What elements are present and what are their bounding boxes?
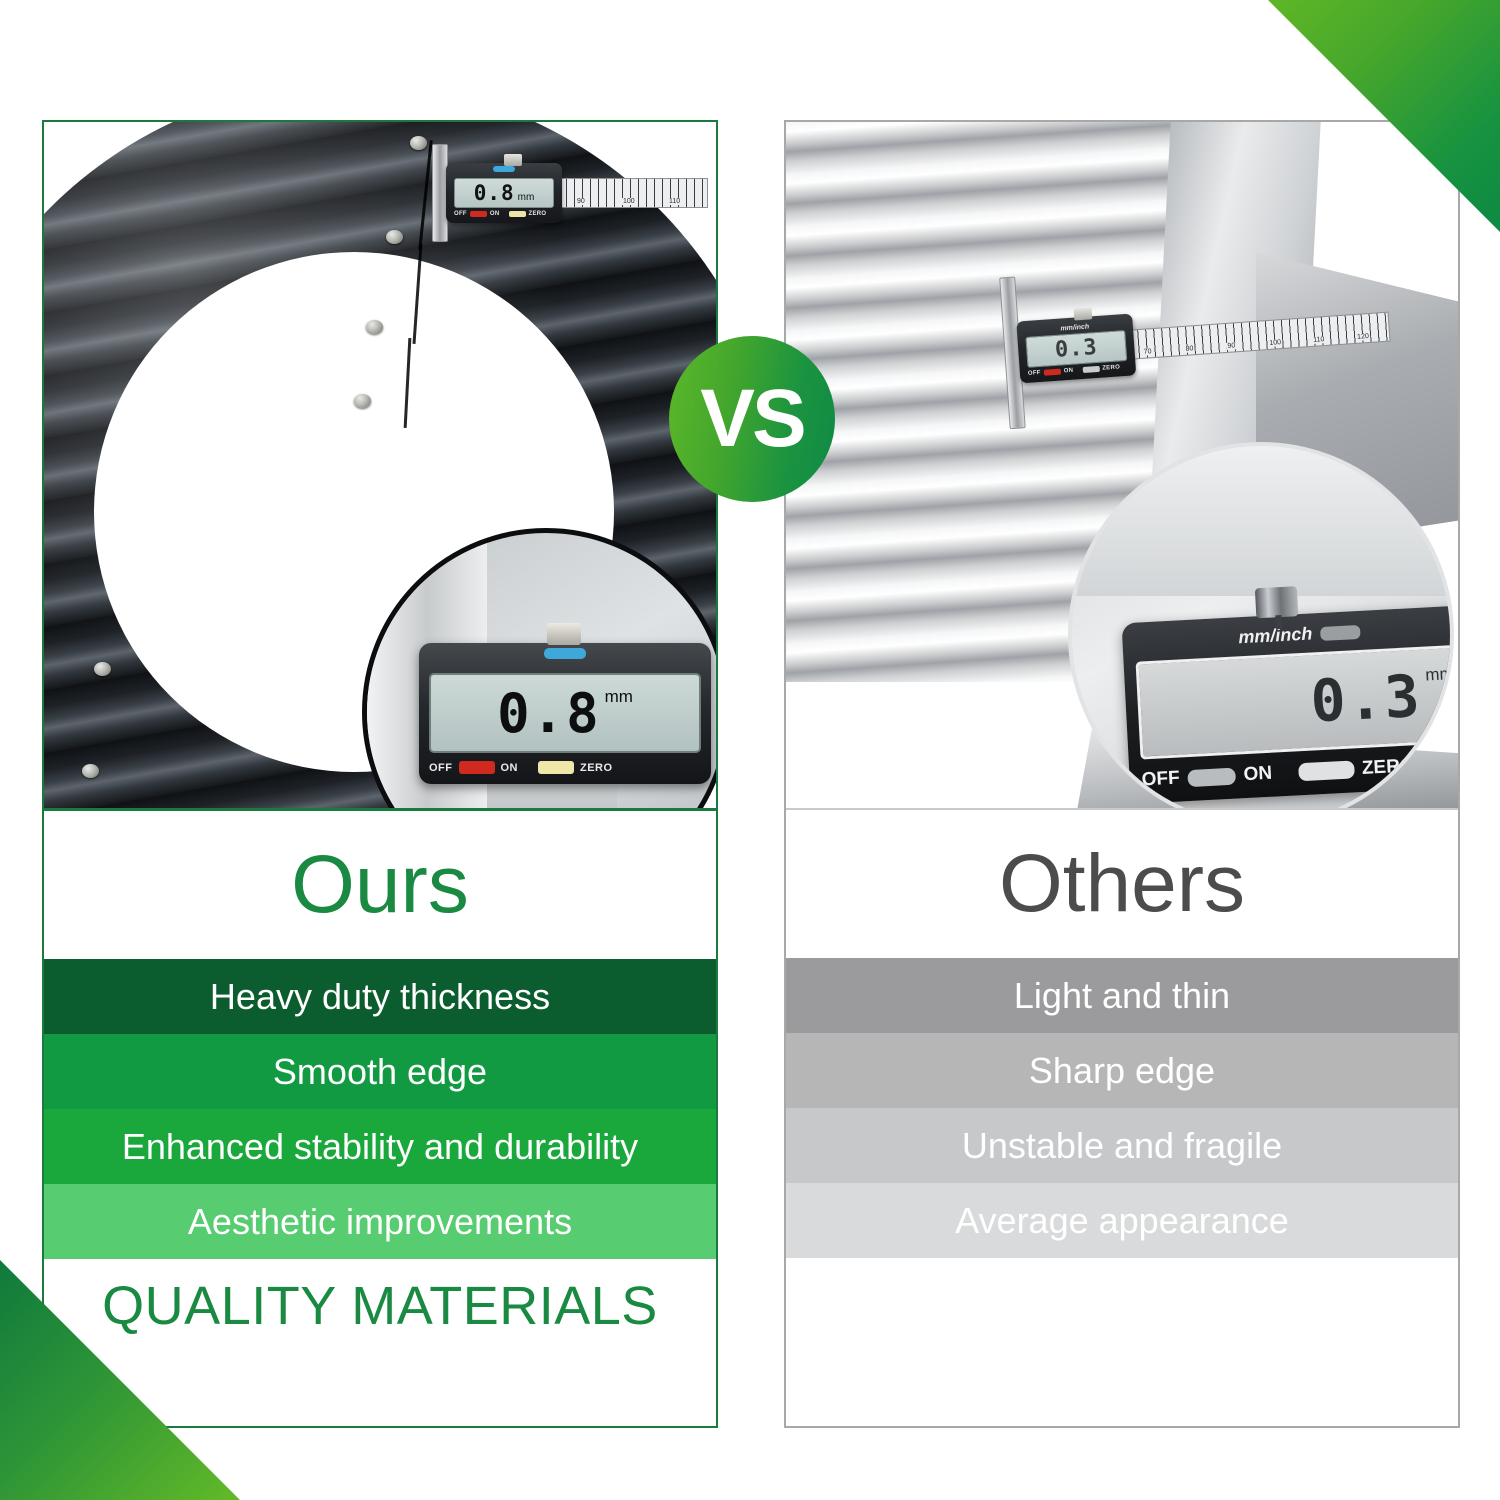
caliper-power-switch (470, 211, 487, 217)
caliper-zero-label: ZERO (1361, 755, 1415, 780)
ruler-tick-label: 100 (1268, 339, 1282, 347)
caliper-zero-label: ZERO (529, 211, 547, 217)
caliper-zero-label: ZERO (1102, 364, 1120, 371)
caliper-reading: 0.3 (1054, 335, 1098, 363)
magnified-caliper-others: mm/inch 0.3 mm OFF ON ZERO (1122, 605, 1454, 804)
caliper-unit: mm (1425, 664, 1454, 685)
caliper-power-switch (1187, 767, 1236, 786)
feature-row: Light and thin (786, 958, 1458, 1033)
caliper-off-label: OFF (1028, 370, 1041, 377)
caliper-thumbscrew (1074, 307, 1093, 320)
caliper-mode-button (493, 166, 515, 172)
feature-row: Average appearance (786, 1183, 1458, 1258)
vs-badge: VS (669, 336, 835, 502)
ruler-tick-label: 90 (576, 198, 586, 205)
caliper-on-label: ON (501, 762, 519, 774)
caliper-body: mm/inch 0.3 OFF ON ZERO (1016, 313, 1136, 383)
ruler-tick-label: 90 (1226, 342, 1236, 350)
caliper-thumbscrew (1254, 586, 1298, 618)
caliper-zero-button (1082, 366, 1099, 373)
ruler-tick-label: 70 (1142, 348, 1152, 356)
caliper-thumbscrew (547, 623, 581, 645)
caliper-off-label: OFF (429, 762, 453, 774)
feature-label: Light and thin (1014, 975, 1230, 1017)
caliper-display: 0.3 mm (1136, 644, 1454, 759)
ruler-tick-label: 120 (1356, 333, 1370, 341)
feature-row: Unstable and fragile (786, 1108, 1458, 1183)
screw-icon (410, 136, 427, 150)
ruler-tick-label: 110 (668, 198, 681, 205)
caliper-on-label: ON (490, 211, 500, 217)
feature-list-ours: Heavy duty thickness Smooth edge Enhance… (44, 959, 716, 1259)
caliper-zero-button (509, 211, 526, 217)
digital-caliper-others: mm/inch 0.3 OFF ON ZERO 70 80 90 100 110 (999, 251, 1395, 430)
screw-icon (366, 320, 383, 334)
product-photo-ours: 0.8 mm OFF ON ZERO 90 100 110 (44, 122, 716, 811)
caliper-reading: 0.3 (1309, 662, 1423, 736)
caliper-ruler: 90 100 110 (558, 178, 708, 208)
panel-title-others: Others (786, 810, 1458, 958)
feature-row: Aesthetic improvements (44, 1184, 716, 1259)
ruler-tick-label: 100 (622, 198, 636, 205)
caliper-mode-button (1320, 624, 1361, 640)
feature-list-others: Light and thin Sharp edge Unstable and f… (786, 958, 1458, 1258)
screw-icon (386, 230, 403, 244)
feature-label: Enhanced stability and durability (122, 1126, 638, 1168)
caliper-body: 0.8 mm OFF ON ZERO (446, 163, 562, 223)
caliper-buttons: OFF ON ZERO (429, 761, 701, 774)
feature-label: Unstable and fragile (962, 1125, 1282, 1167)
feature-row: Heavy duty thickness (44, 959, 716, 1034)
caliper-thumbscrew (504, 154, 522, 166)
digital-caliper-ours: 0.8 mm OFF ON ZERO 90 100 110 (432, 144, 708, 242)
page-title-others: Others (999, 843, 1245, 925)
caliper-display: 0.8 mm (454, 178, 554, 208)
magnified-caliper-ours: 0.8 mm OFF ON ZERO (419, 643, 711, 784)
caliper-reading: 0.8 (497, 682, 601, 745)
caliper-buttons: OFF ON ZERO (454, 211, 554, 217)
feature-label: Average appearance (955, 1200, 1289, 1242)
vs-label: VS (700, 378, 803, 460)
caliper-on-label: ON (1243, 763, 1273, 786)
feature-row: Sharp edge (786, 1033, 1458, 1108)
magnified-detail-ours: 0.8 mm OFF ON ZERO (362, 528, 716, 811)
caliper-display: 0.3 (1025, 330, 1127, 368)
caliper-ruler: 70 80 90 100 110 120 (1129, 312, 1390, 360)
caliper-zero-button (1298, 760, 1355, 781)
feature-row: Enhanced stability and durability (44, 1109, 716, 1184)
magnified-detail-others: mm/inch 0.3 mm OFF ON ZERO (1068, 442, 1454, 810)
caliper-off-label: OFF (1141, 768, 1180, 792)
feature-label: Heavy duty thickness (210, 976, 550, 1018)
feature-label: Aesthetic improvements (188, 1201, 572, 1243)
caliper-on-label: ON (1064, 368, 1074, 375)
panel-footer-ours: QUALITY MATERIALS (44, 1259, 716, 1426)
screw-icon (354, 394, 371, 408)
caliper-power-switch (459, 761, 495, 774)
caliper-display: 0.8 mm (429, 673, 701, 753)
caliper-reading: 0.8 (474, 181, 515, 205)
screw-icon (94, 662, 111, 676)
ruler-tick-label: 110 (1312, 336, 1326, 344)
ruler-tick-label: 80 (1184, 345, 1194, 353)
feature-label: Smooth edge (273, 1051, 487, 1093)
caliper-power-switch (1044, 369, 1061, 376)
caliper-zero-label: ZERO (580, 762, 613, 774)
comparison-panel-others: mm/inch 0.3 OFF ON ZERO 70 80 90 100 110 (784, 120, 1460, 1428)
caliper-unit: mm (518, 192, 535, 203)
comparison-panel-ours: 0.8 mm OFF ON ZERO 90 100 110 (42, 120, 718, 1428)
screw-icon (82, 764, 99, 778)
feature-row: Smooth edge (44, 1034, 716, 1109)
caliper-mode-button (544, 648, 586, 659)
feature-label: Sharp edge (1029, 1050, 1215, 1092)
panel-footer-others (786, 1258, 1458, 1426)
panel-title-ours: Ours (44, 811, 716, 959)
caliper-unit: mm (605, 687, 633, 707)
product-photo-others: mm/inch 0.3 OFF ON ZERO 70 80 90 100 110 (786, 122, 1458, 810)
caliper-zero-button (538, 761, 574, 774)
page-title-ours: Ours (291, 844, 469, 926)
background-strip (1072, 446, 1454, 596)
caliper-off-label: OFF (454, 211, 467, 217)
quality-materials-label: QUALITY MATERIALS (102, 1275, 658, 1337)
caliper-buttons: OFF ON ZERO (1141, 752, 1454, 791)
